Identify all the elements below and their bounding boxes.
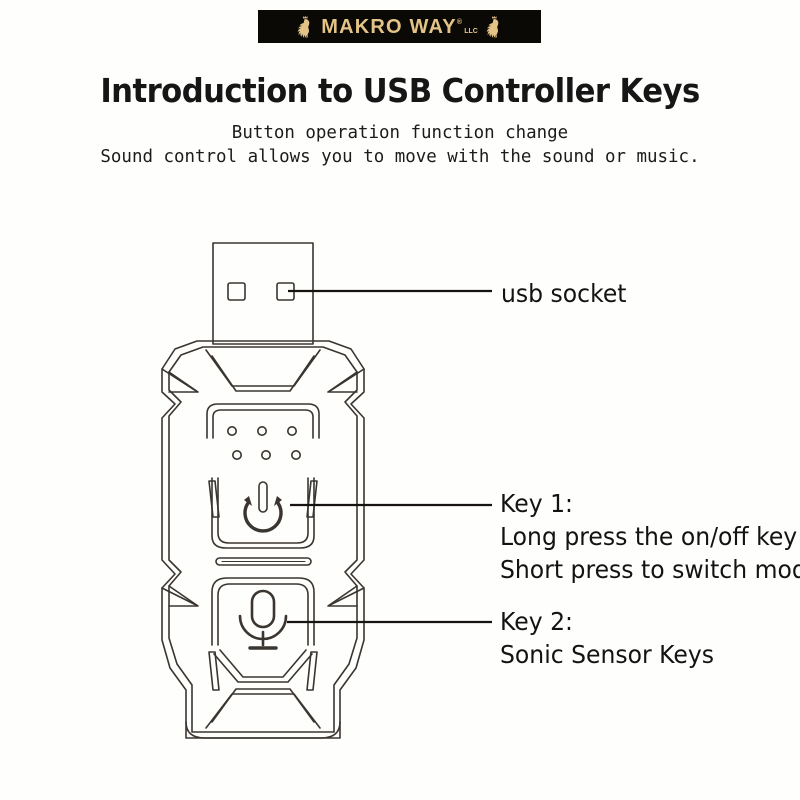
power-button[interactable] [209,478,317,548]
callout-key-2-line-2: Sonic Sensor Keys [500,638,714,671]
divider-bar [216,558,311,565]
callout-key-2-title: Key 2: [500,605,714,638]
callout-key-1: Key 1: Long press the on/off key Short p… [500,487,800,586]
grille-dot [258,427,266,435]
grille-dot [228,427,236,435]
grille-dot [262,451,270,459]
callout-key-1-title: Key 1: [500,487,800,520]
microphone-button[interactable] [209,578,317,690]
callout-usb-socket: usb socket [501,279,627,308]
device-body [162,341,364,738]
speaker-grille [207,404,319,459]
grille-dot [288,427,296,435]
grille-dot [233,451,241,459]
callout-usb-socket-line: usb socket [501,279,627,308]
grille-dot [292,451,300,459]
callout-key-2: Key 2: Sonic Sensor Keys [500,605,714,671]
usb-controller-diagram [0,0,800,800]
callout-key-1-line-3: Short press to switch mode [500,553,800,586]
usb-contact-left [228,283,245,300]
callout-key-1-line-2: Long press the on/off key [500,520,800,553]
microphone-icon [240,591,286,648]
power-icon [244,482,282,531]
usb-connector [213,243,313,344]
